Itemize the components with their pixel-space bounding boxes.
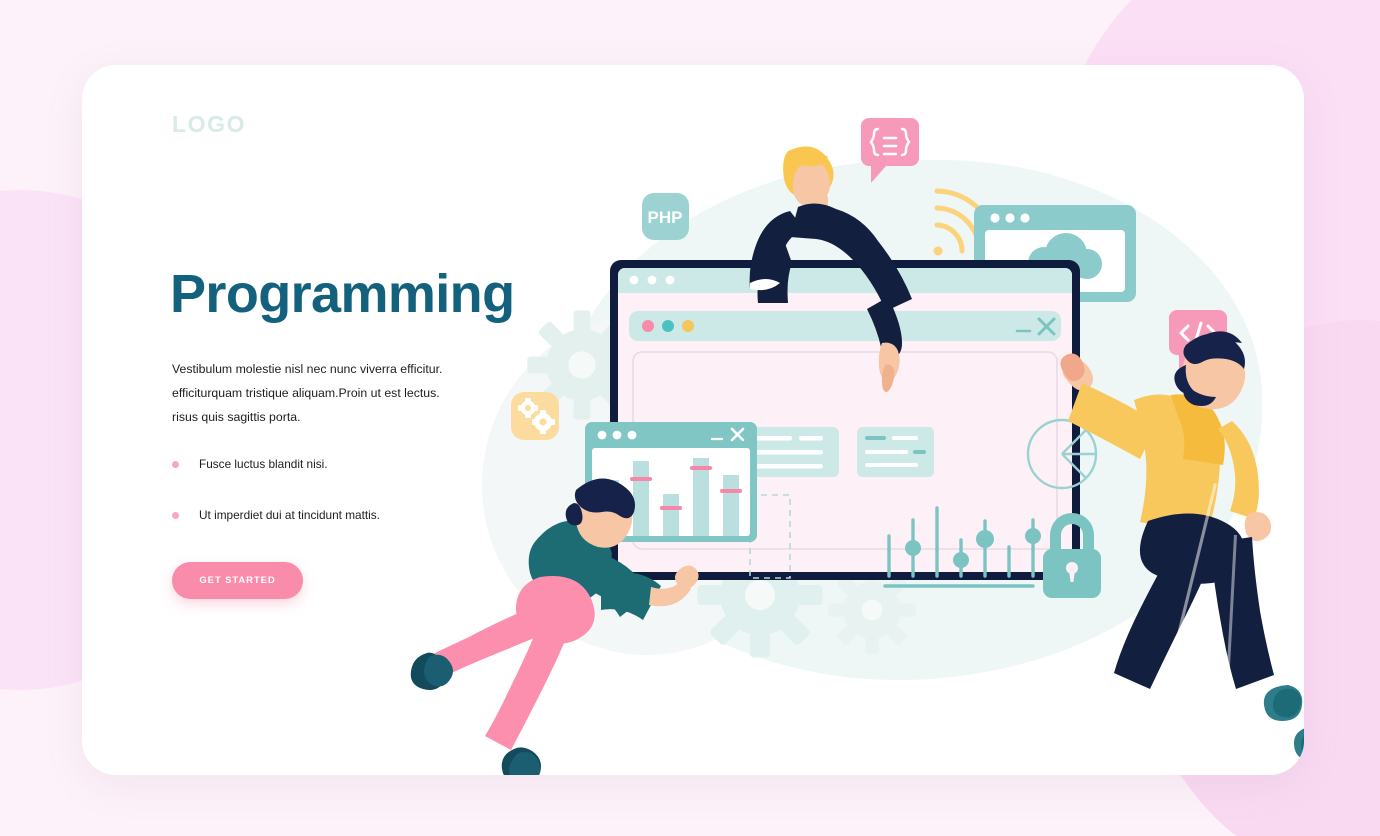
slider-knob	[905, 540, 921, 556]
slider-knob	[1025, 528, 1041, 544]
gears-badge	[511, 392, 559, 440]
hero-card: LOGO Programming Vestibulum molestie nis…	[82, 65, 1304, 775]
window-dot	[630, 276, 639, 285]
slider-knob	[953, 552, 969, 568]
window-dot	[1005, 213, 1014, 222]
window-dot	[613, 431, 622, 440]
window-dot	[598, 431, 607, 440]
window-dot	[666, 276, 675, 285]
window-dot-green	[662, 320, 674, 332]
details-card[interactable]	[857, 427, 934, 477]
window-dot	[1020, 213, 1029, 222]
braces-bubble	[861, 118, 919, 183]
window-dot	[648, 276, 657, 285]
window-dot-yellow	[682, 320, 694, 332]
window-toolbar[interactable]	[629, 311, 1061, 341]
illustration: PHP	[82, 65, 1304, 775]
character-right	[1060, 331, 1304, 761]
svg-text:PHP: PHP	[648, 208, 683, 227]
window-dot-red	[642, 320, 654, 332]
php-badge: PHP	[642, 193, 689, 240]
slider-knob	[976, 530, 994, 548]
window-dot	[628, 431, 637, 440]
window-dot	[990, 213, 999, 222]
